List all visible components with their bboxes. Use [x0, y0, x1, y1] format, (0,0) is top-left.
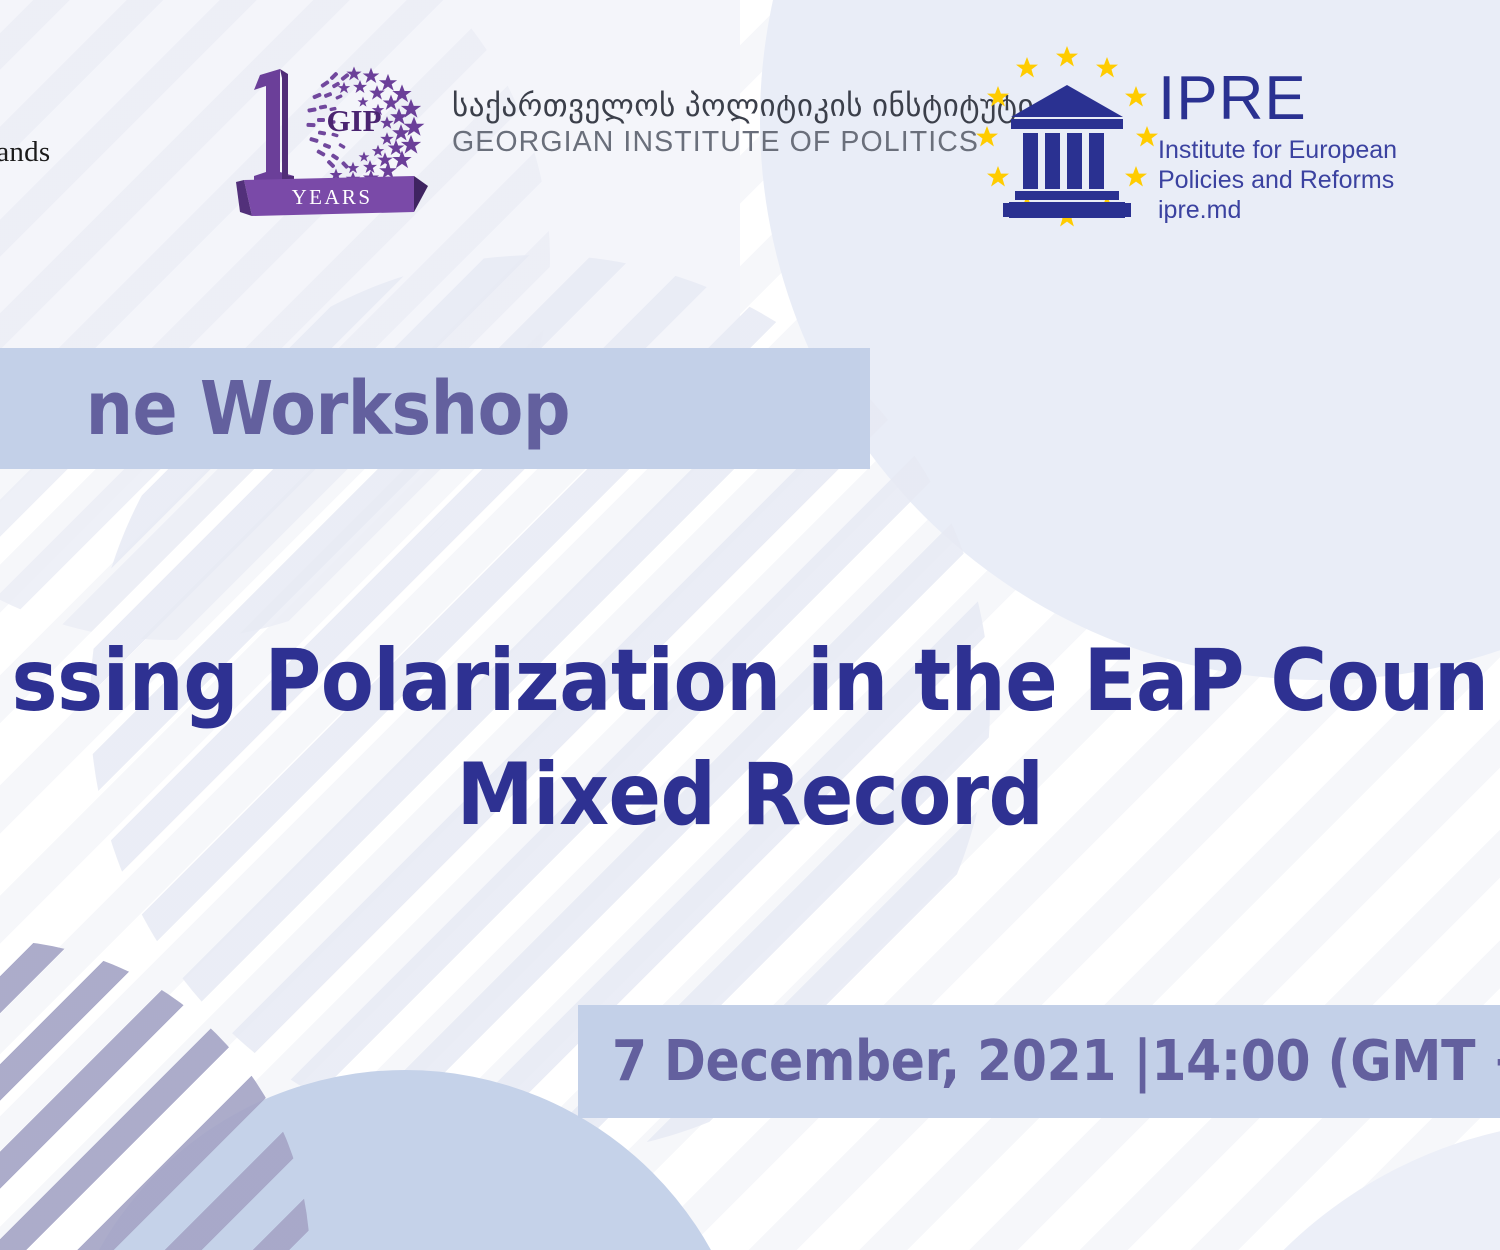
gip-institute-name: საქართველოს პოლიტიკის ინსტიტუტი GEORGIAN…: [452, 88, 922, 160]
gip-10-years-icon: GIP YEARS: [232, 52, 432, 224]
event-datetime-label: 7 December, 2021 |14:00 (GMT +4: [612, 1029, 1500, 1094]
ipre-subtitle-line2: Policies and Reforms: [1158, 165, 1397, 195]
gip-name-georgian: საქართველოს პოლიტიკის ინსტიტუტი: [452, 88, 922, 125]
event-title: ssing Polarization in the EaP Coun Mixed…: [0, 625, 1500, 852]
bottom-right-circle-shape: [1150, 1120, 1500, 1250]
gip-anniversary-logo: GIP YEARS: [232, 52, 432, 224]
event-type-label: ne Workshop: [86, 366, 570, 452]
gip-ribbon-text: YEARS: [292, 185, 373, 209]
ipre-subtitle-line1: Institute for European: [1158, 135, 1397, 165]
event-type-band: ne Workshop: [0, 348, 870, 469]
logo-header: Netherlands: [0, 0, 1500, 300]
ipre-website: ipre.md: [1158, 195, 1397, 225]
ipre-emblem-icon: [975, 45, 1160, 245]
ipre-wordmark: IPRE Institute for European Policies and…: [1158, 68, 1397, 225]
gip-name-english: GEORGIAN INSTITUTE OF POLITICS: [452, 125, 922, 161]
gip-center-text: GIP: [326, 103, 381, 138]
event-title-line-2: Mixed Record: [0, 739, 1500, 853]
ipre-acronym: IPRE: [1158, 68, 1397, 130]
ipre-logo: IPRE Institute for European Policies and…: [975, 45, 1395, 260]
event-banner: Netherlands: [0, 0, 1500, 1250]
netherlands-embassy-logo-text: Netherlands: [0, 136, 158, 169]
event-title-line-1: ssing Polarization in the EaP Coun: [0, 625, 1500, 739]
event-datetime-band: 7 December, 2021 |14:00 (GMT +4: [578, 1005, 1500, 1118]
bottom-left-striped-circle: [0, 940, 310, 1250]
ipre-temple-and-stars-icon: [975, 45, 1160, 245]
